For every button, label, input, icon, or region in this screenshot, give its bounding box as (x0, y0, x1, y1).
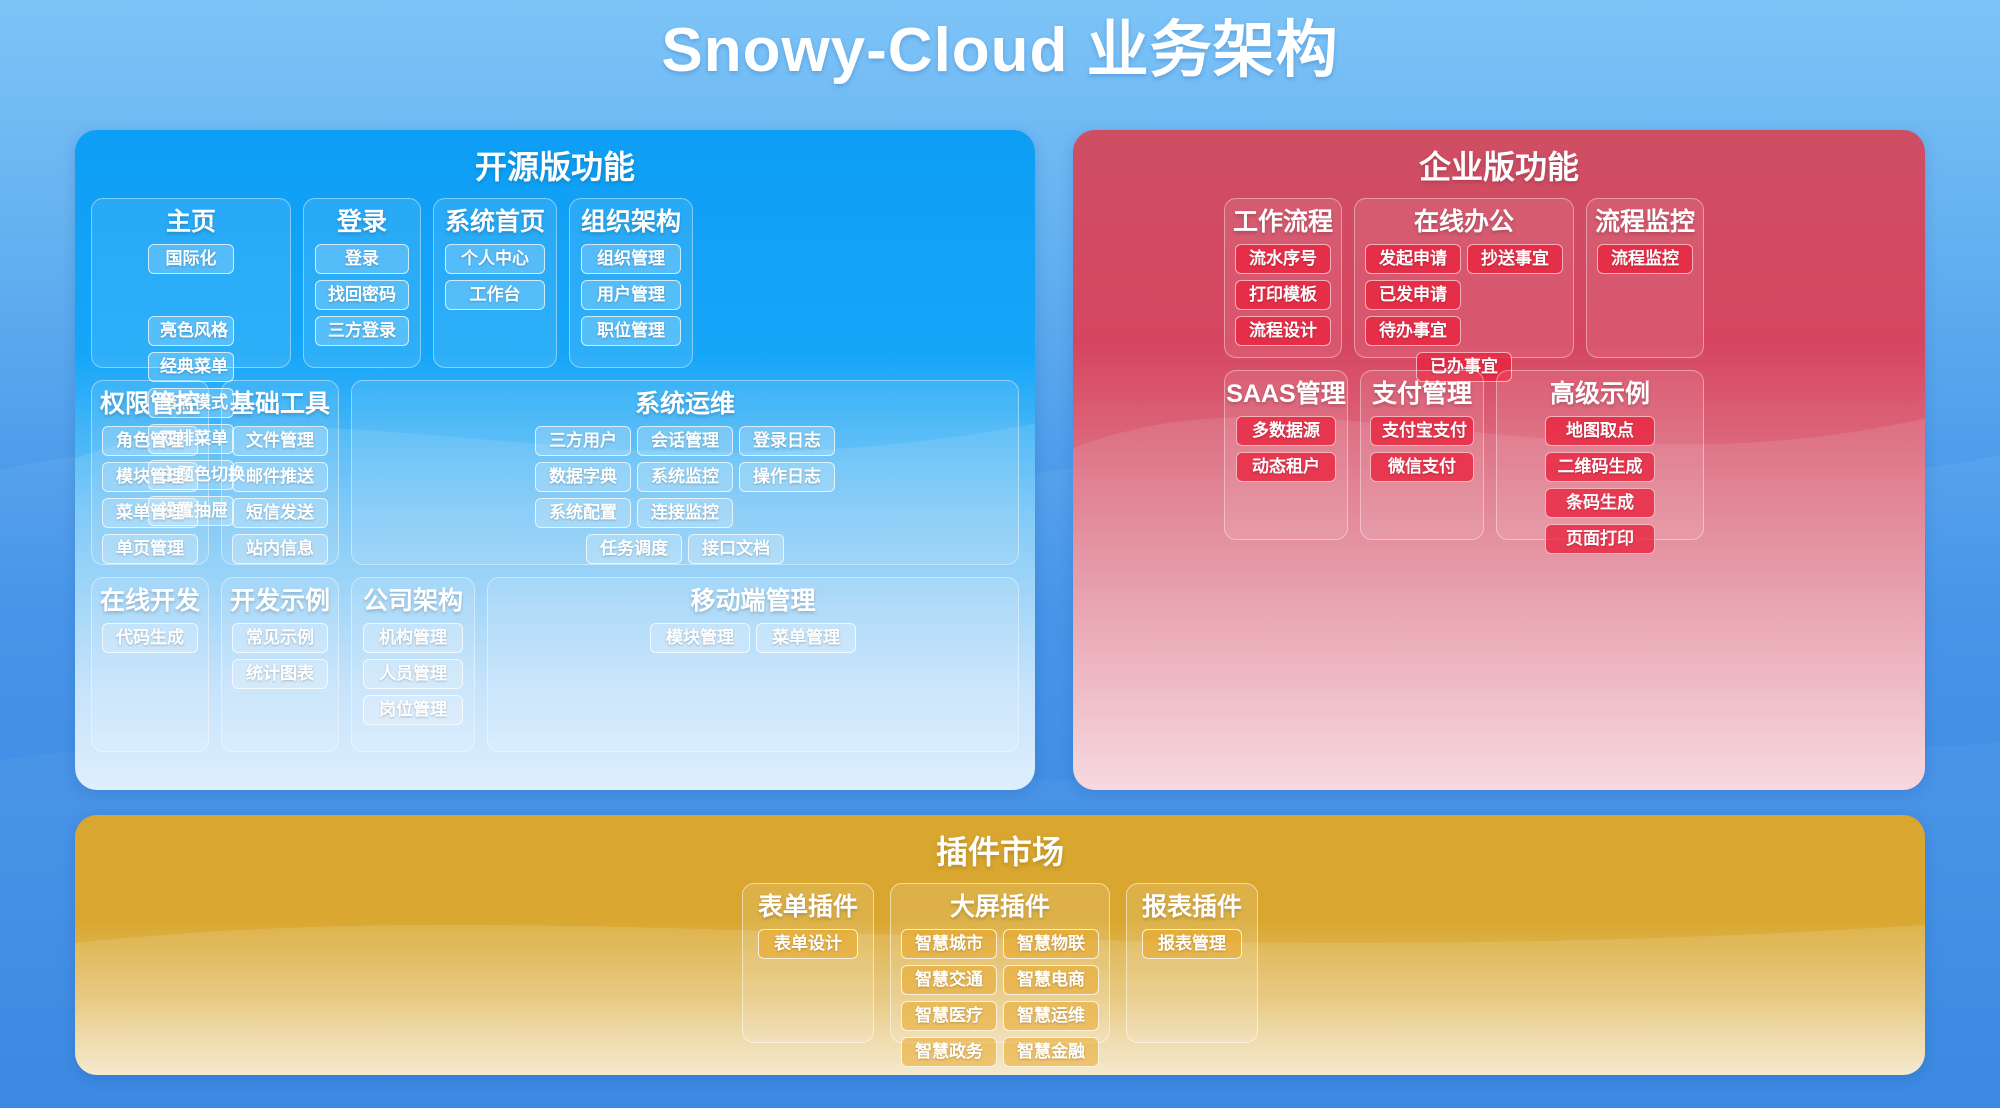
group-login: 登录 登录 找回密码 三方登录 (303, 198, 421, 368)
chip-item[interactable]: 连接监控 (637, 498, 733, 528)
group-row: 在线开发 代码生成 开发示例 常见示例 统计图表 公司架构 机构管理 (91, 577, 1019, 752)
plugin-market-groups: 表单插件 表单设计 大屏插件 智慧城市 智慧物联 智慧交通 智慧电商 智慧医疗 … (91, 883, 1909, 1043)
chip-item[interactable]: 流程设计 (1235, 316, 1331, 346)
chip-item[interactable]: 菜单管理 (756, 623, 856, 653)
chip-item[interactable]: 代码生成 (102, 623, 198, 653)
chip-item[interactable]: 智慧运维 (1003, 1001, 1099, 1031)
group-payment: 支付管理 支付宝支付 微信支付 (1360, 370, 1484, 540)
group-online-dev: 在线开发 代码生成 (91, 577, 209, 752)
chip-item[interactable]: 找回密码 (315, 280, 409, 310)
enterprise-groups: 工作流程 流水序号 打印模板 流程设计 在线办公 发起申请 抄送事宜 已发申请 … (1089, 198, 1909, 540)
group-company-structure: 公司架构 机构管理 人员管理 岗位管理 (351, 577, 475, 752)
chip-item[interactable]: 接口文档 (688, 534, 784, 564)
chip-item[interactable]: 菜单管理 (102, 498, 198, 528)
open-source-groups: 主页 国际化 亮色风格 经典菜单 暗黑模式 双排菜单 主题色切换 设置抽屉 登录 (91, 198, 1019, 752)
page-title: Snowy-Cloud 业务架构 (0, 12, 2000, 90)
chip-item[interactable]: 操作日志 (739, 462, 835, 492)
chip-item[interactable]: 流程监控 (1597, 244, 1693, 274)
chip-item[interactable]: 智慧城市 (901, 929, 997, 959)
group-row: 工作流程 流水序号 打印模板 流程设计 在线办公 发起申请 抄送事宜 已发申请 … (1224, 198, 1774, 358)
chip-item[interactable]: 角色管理 (102, 426, 198, 456)
chip-item[interactable]: 会话管理 (637, 426, 733, 456)
panel-plugin-market: 插件市场 表单插件 表单设计 大屏插件 智慧城市 智慧物联 智慧交通 智慧电商 (75, 815, 1925, 1075)
chip-item[interactable]: 文件管理 (232, 426, 328, 456)
group-title: 高级示例 (1550, 377, 1650, 411)
chip-item[interactable]: 机构管理 (363, 623, 463, 653)
chip-item[interactable]: 系统配置 (535, 498, 631, 528)
group-system-ops: 系统运维 三方用户 会话管理 登录日志 数据字典 系统监控 操作日志 系统配置 … (351, 380, 1019, 565)
chip-item[interactable]: 三方用户 (535, 426, 631, 456)
group-title: 登录 (337, 205, 387, 239)
group-online-office: 在线办公 发起申请 抄送事宜 已发申请 待办事宜 已办事宜 (1354, 198, 1574, 358)
group-row: 权限管控 角色管理 模块管理 菜单管理 单页管理 基础工具 文件管理 邮件推送 … (91, 380, 1019, 565)
chip-item[interactable]: 模块管理 (650, 623, 750, 653)
chip-item[interactable]: 岗位管理 (363, 695, 463, 725)
chip-item[interactable]: 邮件推送 (232, 462, 328, 492)
chip-item[interactable]: 模块管理 (102, 462, 198, 492)
chip-item[interactable]: 用户管理 (581, 280, 681, 310)
chip-item[interactable]: 亮色风格 (148, 316, 234, 346)
group-title: 系统运维 (635, 387, 735, 421)
chip-item[interactable]: 抄送事宜 (1467, 244, 1563, 274)
chip-item[interactable]: 支付宝支付 (1370, 416, 1474, 446)
group-permission: 权限管控 角色管理 模块管理 菜单管理 单页管理 (91, 380, 209, 565)
group-report-plugin: 报表插件 报表管理 (1126, 883, 1258, 1043)
chip-item[interactable]: 智慧政务 (901, 1037, 997, 1067)
group-row: 表单插件 表单设计 大屏插件 智慧城市 智慧物联 智慧交通 智慧电商 智慧医疗 … (91, 883, 1909, 1043)
chip-item[interactable]: 国际化 (148, 244, 234, 274)
group-row: 主页 国际化 亮色风格 经典菜单 暗黑模式 双排菜单 主题色切换 设置抽屉 登录 (91, 198, 1019, 368)
chip-item[interactable]: 表单设计 (758, 929, 858, 959)
chip-item[interactable]: 工作台 (445, 280, 545, 310)
chip-item[interactable]: 微信支付 (1370, 452, 1474, 482)
chip-item[interactable]: 站内信息 (232, 534, 328, 564)
group-title: 系统首页 (445, 205, 545, 239)
chip-item[interactable]: 单页管理 (102, 534, 198, 564)
group-home: 主页 国际化 亮色风格 经典菜单 暗黑模式 双排菜单 主题色切换 设置抽屉 (91, 198, 291, 368)
chip-item[interactable]: 经典菜单 (148, 352, 234, 382)
chip-item[interactable]: 报表管理 (1142, 929, 1242, 959)
chip-item[interactable]: 条码生成 (1545, 488, 1655, 518)
chip-item[interactable]: 人员管理 (363, 659, 463, 689)
group-title: 大屏插件 (950, 890, 1050, 924)
group-title: 基础工具 (230, 387, 330, 421)
group-title: 报表插件 (1142, 890, 1242, 924)
chip-item[interactable]: 智慧金融 (1003, 1037, 1099, 1067)
group-saas: SAAS管理 多数据源 动态租户 (1224, 370, 1348, 540)
group-workflow: 工作流程 流水序号 打印模板 流程设计 (1224, 198, 1342, 358)
group-title: 公司架构 (363, 584, 463, 618)
group-basic-tools: 基础工具 文件管理 邮件推送 短信发送 站内信息 (221, 380, 339, 565)
chip-item[interactable]: 登录 (315, 244, 409, 274)
group-org-structure: 组织架构 组织管理 用户管理 职位管理 (569, 198, 693, 368)
group-title: 移动端管理 (690, 584, 815, 618)
panel-title-open-source: 开源版功能 (91, 144, 1019, 190)
group-form-plugin: 表单插件 表单设计 (742, 883, 874, 1043)
chip-item[interactable]: 打印模板 (1235, 280, 1331, 310)
chip-item[interactable]: 智慧医疗 (901, 1001, 997, 1031)
chip-item[interactable]: 发起申请 (1365, 244, 1461, 274)
group-title: 工作流程 (1233, 205, 1333, 239)
group-title: 流程监控 (1595, 205, 1695, 239)
group-bigscreen-plugin: 大屏插件 智慧城市 智慧物联 智慧交通 智慧电商 智慧医疗 智慧运维 智慧政务 … (890, 883, 1110, 1043)
group-title: 支付管理 (1372, 377, 1472, 411)
group-title: 表单插件 (758, 890, 858, 924)
panel-title-enterprise: 企业版功能 (1089, 144, 1909, 190)
chip-item[interactable]: 页面打印 (1545, 524, 1655, 554)
chip-item[interactable]: 二维码生成 (1545, 452, 1655, 482)
group-title: 主页 (166, 205, 216, 239)
chip-item[interactable]: 已发申请 (1365, 280, 1461, 310)
chip-item[interactable]: 个人中心 (445, 244, 545, 274)
chip-item[interactable]: 数据字典 (535, 462, 631, 492)
group-advanced-examples: 高级示例 地图取点 二维码生成 条码生成 页面打印 (1496, 370, 1704, 540)
chip-item[interactable]: 流水序号 (1235, 244, 1331, 274)
group-mobile-admin: 移动端管理 模块管理 菜单管理 (487, 577, 1019, 752)
chip-item[interactable]: 智慧物联 (1003, 929, 1099, 959)
chip-item[interactable]: 职位管理 (581, 316, 681, 346)
group-dev-examples: 开发示例 常见示例 统计图表 (221, 577, 339, 752)
chip-item[interactable]: 短信发送 (232, 498, 328, 528)
group-title: 在线开发 (100, 584, 200, 618)
group-title: SAAS管理 (1226, 377, 1345, 411)
chip-item[interactable]: 登录日志 (739, 426, 835, 456)
chip-item[interactable]: 地图取点 (1545, 416, 1655, 446)
chip-item[interactable]: 智慧交通 (901, 965, 997, 995)
chip-item[interactable]: 组织管理 (581, 244, 681, 274)
chip-item[interactable]: 智慧电商 (1003, 965, 1099, 995)
chip-item[interactable]: 系统监控 (637, 462, 733, 492)
group-row: SAAS管理 多数据源 动态租户 支付管理 支付宝支付 微信支付 高级示例 (1224, 370, 1774, 540)
group-title: 开发示例 (230, 584, 330, 618)
chip-item[interactable]: 任务调度 (586, 534, 682, 564)
chip-item[interactable]: 动态租户 (1236, 452, 1336, 482)
group-title: 在线办公 (1414, 205, 1514, 239)
chip-item[interactable]: 多数据源 (1236, 416, 1336, 446)
group-title: 组织架构 (581, 205, 681, 239)
group-title: 权限管控 (100, 387, 200, 421)
group-process-monitor: 流程监控 流程监控 (1586, 198, 1704, 358)
chip-item[interactable]: 待办事宜 (1365, 316, 1461, 346)
panel-title-plugin-market: 插件市场 (91, 829, 1909, 875)
chip-item[interactable]: 统计图表 (232, 659, 328, 689)
panel-enterprise: 企业版功能 工作流程 流水序号 打印模板 流程设计 在线办公 发起申请 抄送 (1073, 130, 1925, 790)
panel-open-source: 开源版功能 主页 国际化 亮色风格 经典菜单 暗黑模式 双排菜单 主题色切换 设… (75, 130, 1035, 790)
chip-item[interactable]: 三方登录 (315, 316, 409, 346)
group-system-home: 系统首页 个人中心 工作台 (433, 198, 557, 368)
chip-item[interactable]: 常见示例 (232, 623, 328, 653)
